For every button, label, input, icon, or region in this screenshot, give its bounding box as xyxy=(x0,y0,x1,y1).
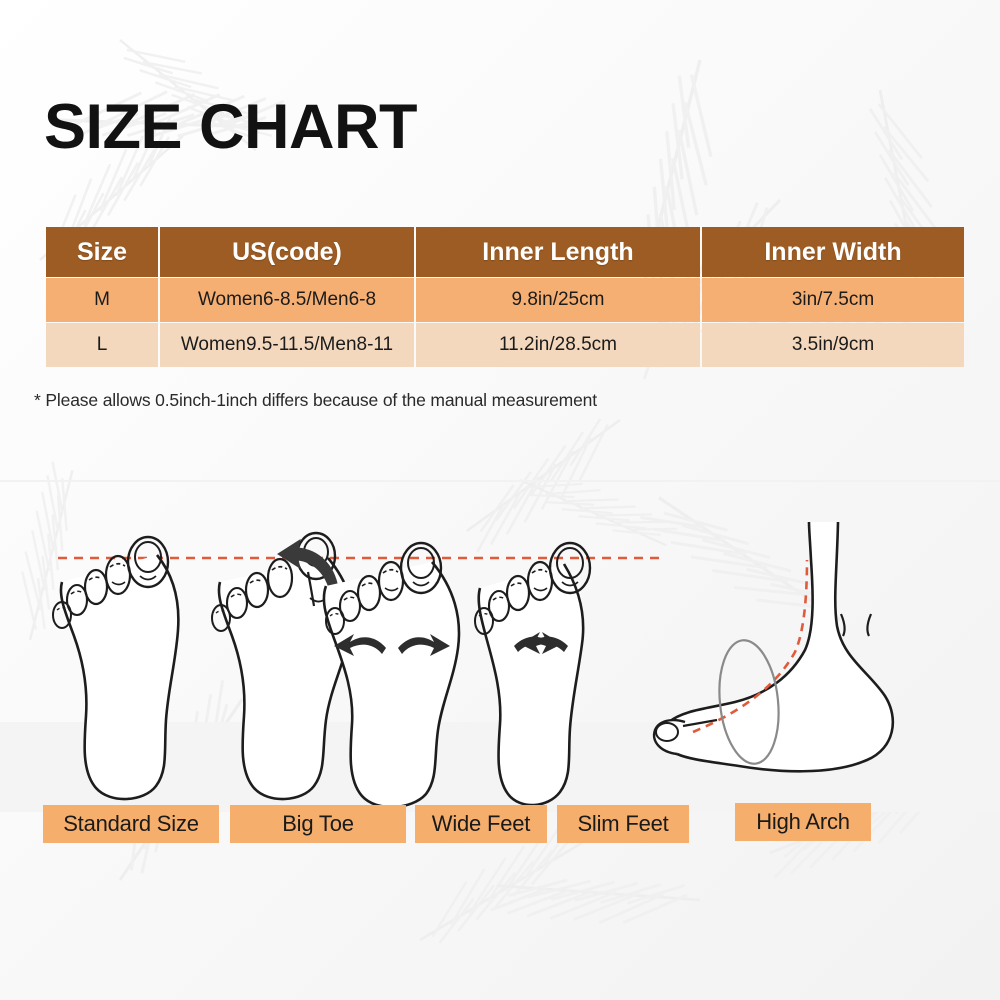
foot-type-label-slim-feet: Slim Feet xyxy=(557,805,689,843)
cell-us-code: Women9.5-11.5/Men8-11 xyxy=(160,323,414,367)
cell-size: M xyxy=(46,278,158,322)
column-header-us-code: US(code) xyxy=(160,227,414,277)
foot-top-wide-icon xyxy=(324,543,459,807)
cell-inner-width: 3in/7.5cm xyxy=(702,278,964,322)
page-title: SIZE CHART xyxy=(44,92,417,162)
foot-top-slim-icon xyxy=(475,543,590,805)
cell-size: L xyxy=(46,323,158,367)
measurement-footnote: * Please allows 0.5inch-1inch differs be… xyxy=(34,390,597,411)
foot-type-label-standard-size: Standard Size xyxy=(43,805,219,843)
cell-us-code: Women6-8.5/Men6-8 xyxy=(160,278,414,322)
table-header-row: Size US(code) Inner Length Inner Width xyxy=(46,227,964,277)
cell-inner-width: 3.5in/9cm xyxy=(702,323,964,367)
cell-inner-length: 11.2in/28.5cm xyxy=(416,323,700,367)
foot-side-higharch-icon xyxy=(654,522,893,771)
column-header-inner-length: Inner Length xyxy=(416,227,700,277)
foot-type-label-big-toe: Big Toe xyxy=(230,805,406,843)
foot-illustrations xyxy=(0,520,1000,820)
table-row: M Women6-8.5/Men6-8 9.8in/25cm 3in/7.5cm xyxy=(46,278,964,322)
column-header-inner-width: Inner Width xyxy=(702,227,964,277)
foot-type-label-high-arch: High Arch xyxy=(735,803,871,841)
foot-diagram-group xyxy=(0,520,1000,820)
size-chart-table: Size US(code) Inner Length Inner Width M… xyxy=(44,226,966,368)
table-row: L Women9.5-11.5/Men8-11 11.2in/28.5cm 3.… xyxy=(46,323,964,367)
cell-inner-length: 9.8in/25cm xyxy=(416,278,700,322)
foot-type-label-wide-feet: Wide Feet xyxy=(415,805,547,843)
foot-top-standard-icon xyxy=(53,537,178,799)
column-header-size: Size xyxy=(46,227,158,277)
